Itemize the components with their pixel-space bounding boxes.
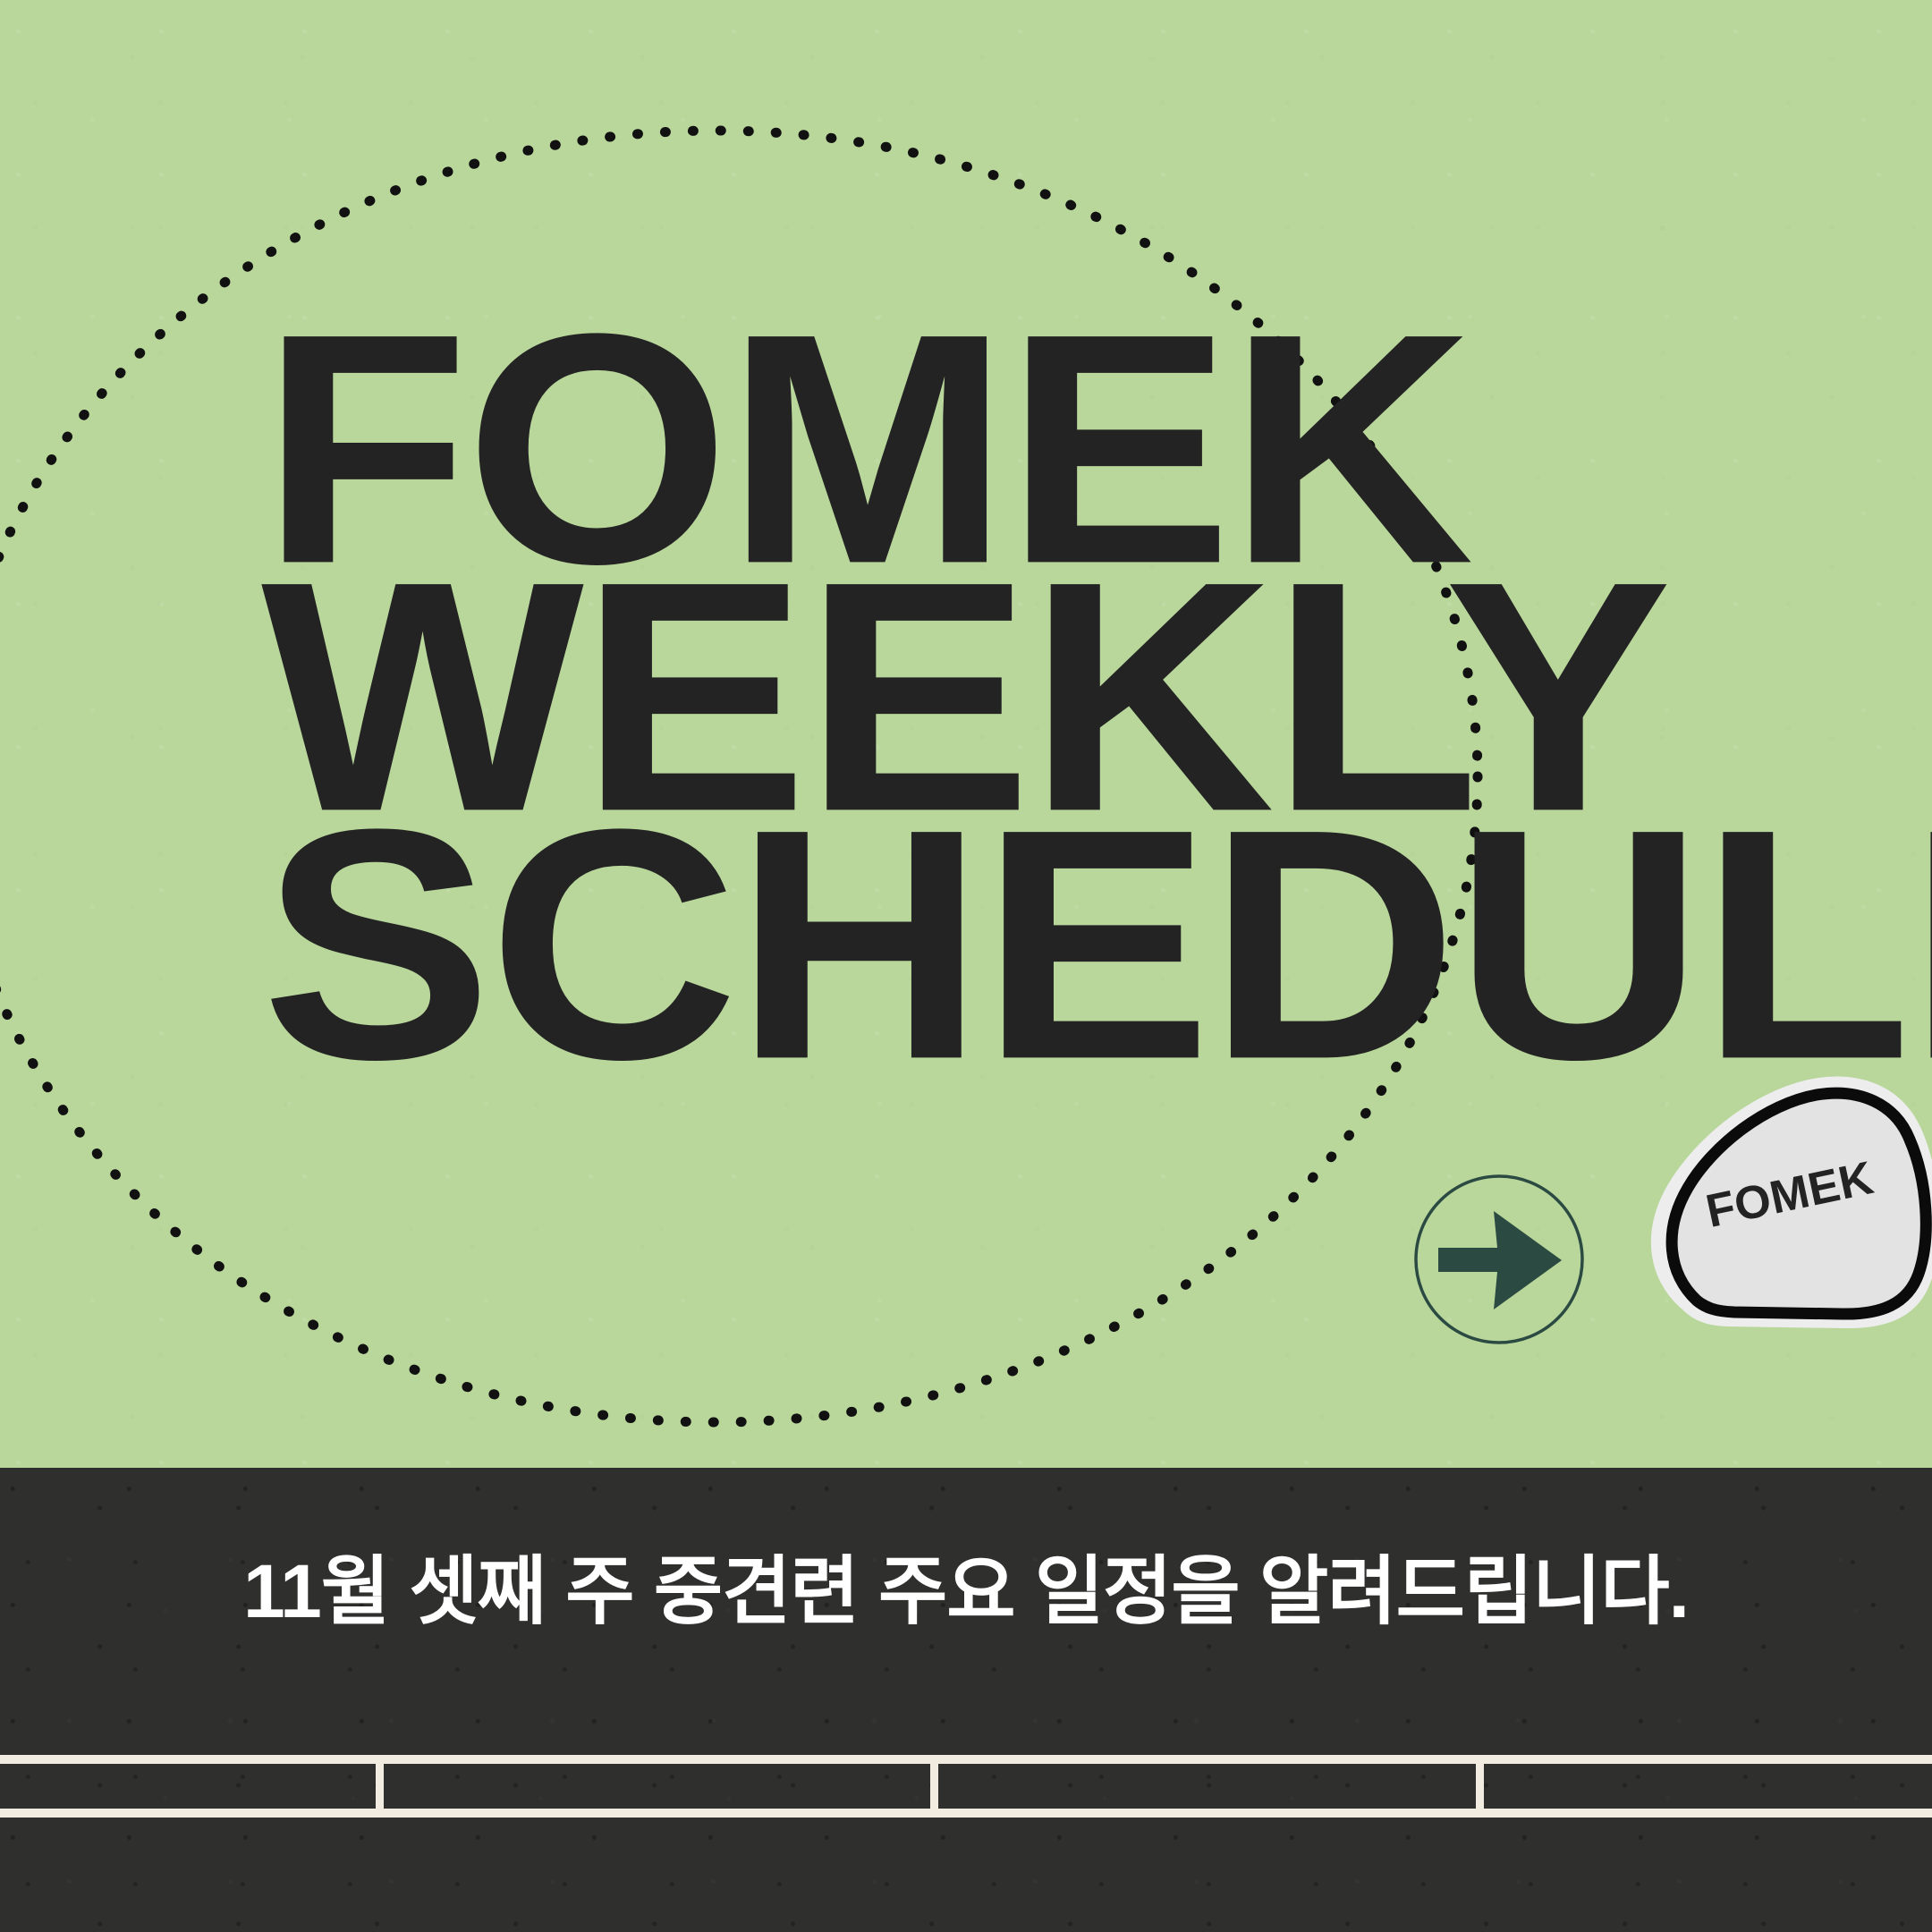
title-line-schedule: SCHEDULE [261, 814, 1932, 1076]
hero-section: FOMEK WEEKLY SCHEDULE FOMEK [0, 0, 1932, 1468]
arrow-right-icon [1438, 1211, 1562, 1309]
fomek-sticker[interactable]: FOMEK [1641, 1070, 1932, 1329]
strip-divider-1 [376, 1764, 384, 1809]
poster-canvas: FOMEK WEEKLY SCHEDULE FOMEK 11월 셋째 주 중견련… [0, 0, 1932, 1932]
footer-paper-texture [0, 1468, 1932, 1932]
strip-divider-2 [930, 1764, 938, 1809]
footer-section: 11월 셋째 주 중견련 주요 일정을 알려드립니다. [0, 1468, 1932, 1932]
footer-subheadline: 11월 셋째 주 중견련 주요 일정을 알려드립니다. [0, 1554, 1932, 1629]
strip-line-bottom [0, 1809, 1932, 1818]
strip-line-top [0, 1755, 1932, 1764]
next-arrow-button[interactable] [1411, 1172, 1587, 1347]
page-title: FOMEK WEEKLY SCHEDULE [261, 318, 1782, 1061]
strip-divider-3 [1476, 1764, 1484, 1809]
divider-strip [0, 1755, 1932, 1818]
